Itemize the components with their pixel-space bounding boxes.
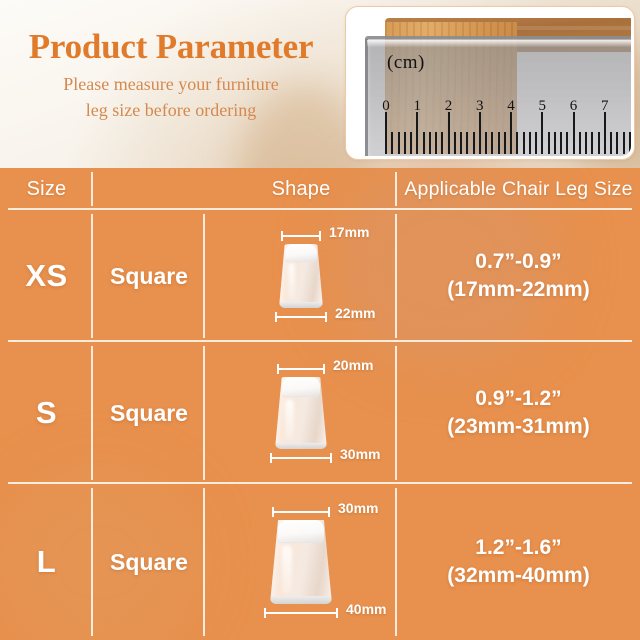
ruler-minor-tick <box>466 132 468 154</box>
ruler-minor-tick <box>485 132 487 154</box>
cap-bottom-dimension-label: 22mm <box>335 305 375 321</box>
table-header-size-label: Size <box>27 178 67 201</box>
ruler-major-tick <box>604 112 606 154</box>
cap-stage: 17mm 22mm <box>205 221 397 331</box>
cap-top-dimension-line <box>277 368 325 370</box>
ruler-minor-tick <box>454 132 456 154</box>
cap-stage: 30mm 40mm <box>205 507 397 617</box>
row-applicable-inches: 0.9”-1.2” <box>447 385 589 413</box>
ruler-card-inner: (cm) 012345678 <box>349 10 631 156</box>
row-applicable-text: 1.2”-1.6” (32mm-40mm) <box>447 534 589 590</box>
parameter-table: Size Shape Applicable Chair Leg Size XS … <box>0 168 640 640</box>
cap-top-dimension: 17mm <box>281 230 321 242</box>
ruler-minor-tick <box>435 132 437 154</box>
ruler-major-tick <box>479 112 481 154</box>
ruler-minor-tick <box>523 132 525 154</box>
cap-top-surface <box>282 377 320 397</box>
cap-graphic <box>270 520 332 604</box>
page-title: Product Parameter <box>6 28 336 66</box>
ruler-major-tick <box>510 112 512 154</box>
ruler-minor-tick <box>560 132 562 154</box>
cap-top-dimension-line <box>272 511 330 513</box>
cap-highlight <box>282 545 292 594</box>
ruler-minor-tick <box>591 132 593 154</box>
cap-highlight <box>288 263 295 300</box>
cap-body <box>279 244 323 308</box>
ruler-tick-number: 7 <box>601 98 609 115</box>
ruler-minor-tick <box>423 132 425 154</box>
cap-base-rim <box>270 596 332 604</box>
ruler-major-tick <box>448 112 450 154</box>
row-size-cell: S <box>0 342 93 484</box>
cap-base-rim <box>275 443 327 449</box>
ruler-minor-tick <box>598 132 600 154</box>
cap-graphic <box>275 377 327 449</box>
ruler-minor-tick <box>504 132 506 154</box>
row-shape-label: Square <box>110 400 188 427</box>
ruler-minor-tick <box>566 132 568 154</box>
cap-body <box>275 377 327 449</box>
ruler-major-tick <box>573 112 575 154</box>
ruler-minor-tick <box>473 132 475 154</box>
row-image-cell: 17mm 22mm <box>205 210 397 342</box>
ruler-tick-number: 3 <box>476 98 484 115</box>
ruler-minor-tick <box>398 132 400 154</box>
table-row: XS Square <box>0 210 640 342</box>
table-header-applicable: Applicable Chair Leg Size <box>397 168 640 210</box>
ruler-minor-tick <box>404 132 406 154</box>
chair-leg-cap-illustration: 20mm 30mm <box>205 342 397 484</box>
cap-graphic <box>279 244 323 308</box>
table-row: S Square <box>0 342 640 484</box>
ruler-major-tick <box>416 112 418 154</box>
page-subtitle-line-2: leg size before ordering <box>6 97 336 123</box>
ruler-minor-tick <box>629 132 631 154</box>
ruler-tick-row: 012345678 <box>385 98 631 154</box>
cap-bottom-dimension: 22mm <box>275 311 327 323</box>
product-parameter-page: Product Parameter Please measure your fu… <box>0 0 640 640</box>
ruler-unit-label: (cm) <box>387 52 425 74</box>
chair-leg-cap-illustration: 17mm 22mm <box>205 210 397 342</box>
table-header-shape: Shape <box>205 168 397 210</box>
cap-top-dimension-label: 30mm <box>338 500 378 516</box>
page-subtitle-line-1: Please measure your furniture <box>6 71 336 97</box>
cap-body <box>270 520 332 604</box>
row-shape-cell: Square <box>93 484 205 640</box>
row-applicable-mm: (23mm-31mm) <box>447 413 589 441</box>
ruler-minor-tick <box>554 132 556 154</box>
ruler-minor-tick <box>516 132 518 154</box>
ruler-tick-number: 1 <box>414 98 422 115</box>
row-shape-cell: Square <box>93 210 205 342</box>
cap-bottom-dimension-line <box>275 316 327 318</box>
cap-top-dimension-line <box>281 235 321 237</box>
table-header-row: Size Shape Applicable Chair Leg Size <box>0 168 640 210</box>
ruler-minor-tick <box>548 132 550 154</box>
ruler-minor-tick <box>529 132 531 154</box>
cap-top-dimension-label: 17mm <box>329 224 369 240</box>
table-row: L Square <box>0 484 640 640</box>
ruler-minor-tick <box>610 132 612 154</box>
row-shape-label: Square <box>110 263 188 290</box>
ruler-minor-tick <box>498 132 500 154</box>
cap-top-dimension: 20mm <box>277 363 325 375</box>
row-applicable-inches: 1.2”-1.6” <box>447 534 589 562</box>
ruler-minor-tick <box>579 132 581 154</box>
row-image-cell: 20mm 30mm <box>205 342 397 484</box>
cap-stage: 20mm 30mm <box>205 358 397 468</box>
row-size-cell: L <box>0 484 93 640</box>
cap-top-surface <box>285 244 318 262</box>
cap-bottom-dimension: 40mm <box>264 607 338 619</box>
ruler-minor-tick <box>391 132 393 154</box>
row-size-label: S <box>36 395 57 431</box>
row-applicable-mm: (17mm-22mm) <box>447 276 589 304</box>
page-subtitle: Please measure your furniture leg size b… <box>6 71 336 123</box>
table-header-applicable-label: Applicable Chair Leg Size <box>404 178 632 201</box>
ruler-minor-tick <box>460 132 462 154</box>
ruler-minor-tick <box>535 132 537 154</box>
row-applicable-mm: (32mm-40mm) <box>447 562 589 590</box>
ruler-tick-number: 5 <box>539 98 547 115</box>
row-applicable-text: 0.7”-0.9” (17mm-22mm) <box>447 248 589 304</box>
cap-bottom-dimension-line <box>270 457 332 459</box>
ruler-minor-tick <box>429 132 431 154</box>
cap-top-surface <box>278 520 324 543</box>
row-size-cell: XS <box>0 210 93 342</box>
cap-bottom-dimension: 30mm <box>270 452 332 464</box>
cap-bottom-dimension-line <box>264 612 338 614</box>
chair-leg-cap-illustration: 30mm 40mm <box>205 484 397 640</box>
cap-top-dimension: 30mm <box>272 506 330 518</box>
ruler-minor-tick <box>585 132 587 154</box>
ruler-tick-number: 6 <box>570 98 578 115</box>
row-applicable-inches: 0.7”-0.9” <box>447 248 589 276</box>
cap-bottom-dimension-label: 40mm <box>346 601 386 617</box>
row-size-label: L <box>37 544 56 580</box>
row-shape-cell: Square <box>93 342 205 484</box>
cap-bottom-dimension-label: 30mm <box>340 446 380 462</box>
ruler-tick-number: 4 <box>507 98 515 115</box>
cap-top-dimension-label: 20mm <box>333 357 373 373</box>
ruler-minor-tick <box>441 132 443 154</box>
row-size-label: XS <box>25 258 67 294</box>
ruler-major-tick <box>385 112 387 154</box>
ruler-gloss-highlight <box>367 40 631 47</box>
row-applicable-cell: 0.9”-1.2” (23mm-31mm) <box>397 342 640 484</box>
cap-highlight <box>285 399 293 441</box>
table-header-size: Size <box>0 168 93 210</box>
ruler-major-tick <box>541 112 543 154</box>
row-shape-label: Square <box>110 549 188 576</box>
cap-base-rim <box>279 302 323 308</box>
ruler-minor-tick <box>410 132 412 154</box>
row-applicable-cell: 1.2”-1.6” (32mm-40mm) <box>397 484 640 640</box>
row-applicable-text: 0.9”-1.2” (23mm-31mm) <box>447 385 589 441</box>
row-image-cell: 30mm 40mm <box>205 484 397 640</box>
ruler-minor-tick <box>616 132 618 154</box>
ruler-illustration-card: (cm) 012345678 <box>345 6 635 160</box>
ruler-minor-tick <box>491 132 493 154</box>
row-applicable-cell: 0.7”-0.9” (17mm-22mm) <box>397 210 640 342</box>
ruler-tick-number: 0 <box>382 98 390 115</box>
ruler-minor-tick <box>623 132 625 154</box>
ruler-tick-number: 2 <box>445 98 453 115</box>
